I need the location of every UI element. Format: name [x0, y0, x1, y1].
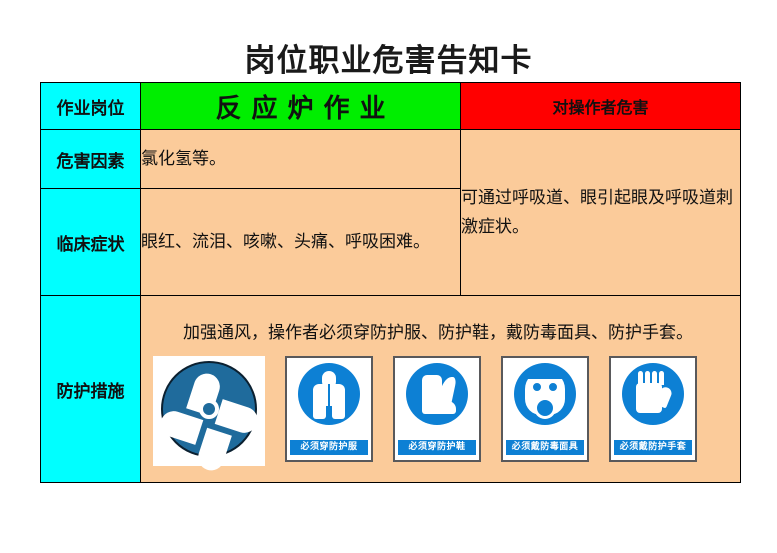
- cell-station-value: 反应炉作业: [141, 83, 461, 130]
- fan-circle: [161, 361, 257, 457]
- table-row-protective-measures: 防护措施 加强通风，操作者必须穿防护服、防护鞋，戴防毒面具、防护手套。: [41, 296, 741, 483]
- fan-blade: [215, 399, 261, 436]
- protective-measures-text: 加强通风，操作者必须穿防护服、防护鞋，戴防毒面具、防护手套。: [141, 312, 740, 348]
- ventilation-fan-icon: [153, 356, 265, 466]
- cell-station-label: 作业岗位: [41, 83, 141, 130]
- gas-mask-icon: [514, 363, 576, 425]
- cell-protective-measure-label: 防护措施: [41, 296, 141, 483]
- cell-hazard-factor-label: 危害因素: [41, 130, 141, 189]
- table-row-header: 作业岗位 反应炉作业 对操作者危害: [41, 83, 741, 130]
- hazard-notification-table: 作业岗位 反应炉作业 对操作者危害 危害因素 氯化氢等。 可通过呼吸道、眼引起眼…: [40, 82, 741, 483]
- sign-gas-mask: 必须戴防毒面具: [501, 356, 589, 462]
- sign-caption-protective-gloves: 必须戴防护手套: [614, 440, 692, 455]
- protective-boots-icon: [406, 363, 468, 425]
- cell-clinical-symptom-value: 眼红、流泪、咳嗽、头痛、呼吸困难。: [141, 189, 461, 296]
- page-title: 岗位职业危害告知卡: [0, 42, 777, 80]
- fan-hub: [199, 399, 219, 419]
- cell-protective-measure-content: 加强通风，操作者必须穿防护服、防护鞋，戴防毒面具、防护手套。: [141, 296, 741, 483]
- sign-caption-protective-clothing: 必须穿防护服: [290, 440, 368, 455]
- sign-caption-protective-boots: 必须穿防护鞋: [398, 440, 476, 455]
- sign-protective-clothing: 必须穿防护服: [285, 356, 373, 462]
- cell-operator-harm-value: 可通过呼吸道、眼引起眼及呼吸道刺激症状。: [461, 130, 741, 296]
- sign-protective-boots: 必须穿防护鞋: [393, 356, 481, 462]
- protective-clothing-icon: [298, 363, 360, 425]
- protective-gloves-icon: [622, 363, 684, 425]
- table-row-hazard-factors: 危害因素 氯化氢等。 可通过呼吸道、眼引起眼及呼吸道刺激症状。: [41, 130, 741, 189]
- fan-blade: [195, 428, 232, 474]
- cell-hazard-factor-value: 氯化氢等。: [141, 130, 461, 189]
- fan-blade: [157, 408, 203, 445]
- sign-caption-gas-mask: 必须戴防毒面具: [506, 440, 584, 455]
- safety-sign-strip: 必须穿防护服 必须穿防护鞋: [141, 348, 740, 466]
- cell-clinical-symptom-label: 临床症状: [41, 189, 141, 296]
- cell-danger-header: 对操作者危害: [461, 83, 741, 130]
- sign-protective-gloves: 必须戴防护手套: [609, 356, 697, 462]
